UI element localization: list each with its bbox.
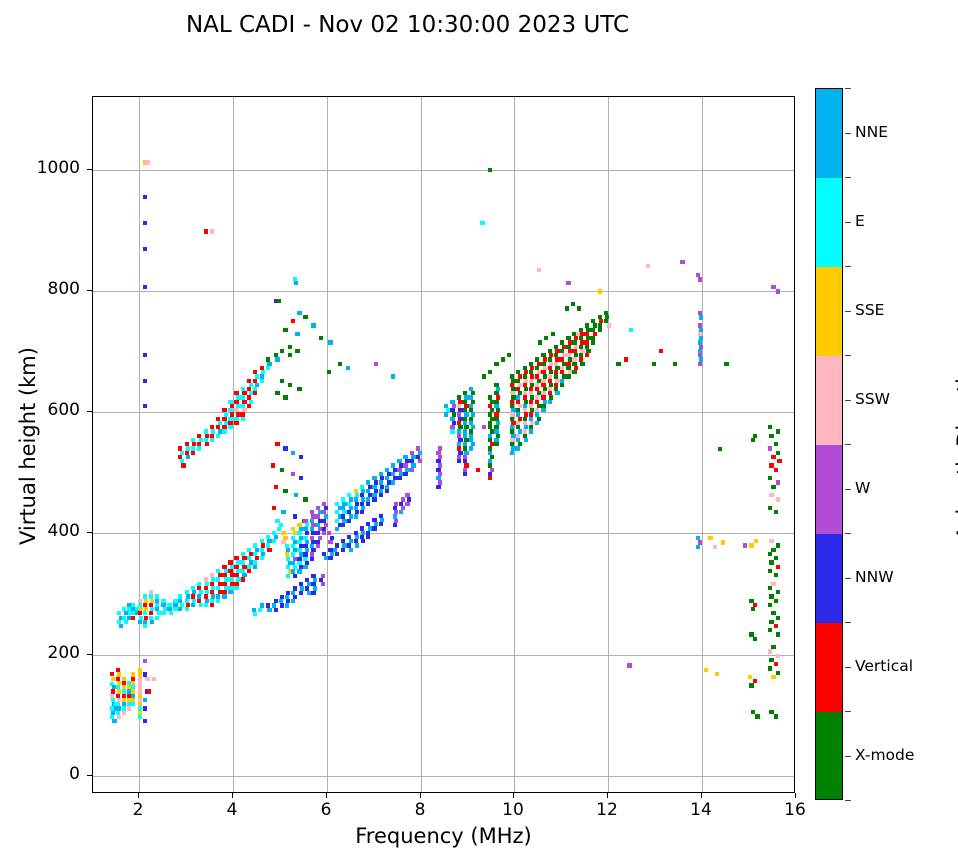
colorbar-tick-mark <box>845 311 851 312</box>
data-cell <box>494 442 498 446</box>
data-cell <box>299 591 303 595</box>
data-cell <box>110 672 114 676</box>
x-tick-mark <box>232 793 233 798</box>
gridline-horizontal <box>93 776 794 777</box>
data-cell <box>585 353 589 357</box>
colorbar-label-ssw: SSW <box>855 390 890 408</box>
data-cell <box>444 412 448 416</box>
data-cell <box>216 599 220 603</box>
y-axis-label: Virtual height (km) <box>16 296 40 596</box>
data-cell <box>748 675 752 679</box>
colorbar-segment-e <box>816 178 842 268</box>
data-cell <box>152 677 156 681</box>
data-cell <box>560 383 564 387</box>
data-cell <box>769 539 773 543</box>
data-cell <box>715 672 719 676</box>
data-cell <box>258 608 262 612</box>
data-cell <box>341 523 345 527</box>
data-cell <box>338 362 342 366</box>
data-cell <box>751 438 755 442</box>
data-cell <box>143 195 147 199</box>
colorbar-segment-x-mode <box>816 712 842 800</box>
data-cell <box>216 434 220 438</box>
x-tick-mark <box>701 793 702 798</box>
data-cell <box>234 586 238 590</box>
colorbar-tick-mark <box>845 578 851 579</box>
data-cell <box>754 539 758 543</box>
y-tick-mark <box>87 290 92 291</box>
data-cell <box>566 374 570 378</box>
data-cell <box>580 362 584 366</box>
data-cell <box>776 671 780 675</box>
data-cell <box>291 599 295 603</box>
data-cell <box>335 527 339 531</box>
data-cell <box>771 675 775 679</box>
y-tick-mark <box>87 775 92 776</box>
data-cell <box>768 628 772 632</box>
colorbar-label-x-mode: X-mode <box>855 746 914 764</box>
data-cell <box>718 447 722 451</box>
data-cell <box>355 543 359 547</box>
data-cell <box>769 658 773 662</box>
data-cell <box>374 362 378 366</box>
colorbar-boundary-tick <box>845 444 851 445</box>
data-cell <box>297 387 301 391</box>
data-cell <box>328 540 332 544</box>
x-tick-mark <box>138 793 139 798</box>
data-cell <box>476 468 480 472</box>
data-cell <box>501 357 505 361</box>
data-cell <box>274 608 278 612</box>
data-cell <box>117 715 121 719</box>
data-cell <box>769 620 773 624</box>
data-cell <box>776 654 780 658</box>
data-cell <box>228 590 232 594</box>
data-cell <box>204 229 208 233</box>
colorbar-boundary-tick <box>845 177 851 178</box>
data-cell <box>281 510 285 514</box>
data-cell <box>565 306 569 310</box>
data-cell <box>771 611 775 615</box>
data-cell <box>267 608 271 612</box>
data-cell <box>769 560 773 564</box>
x-axis-label: Frequency (MHz) <box>92 824 795 848</box>
colorbar-label-w: W <box>855 479 870 497</box>
x-tick-mark <box>513 793 514 798</box>
y-tick-mark <box>87 654 92 655</box>
page-title: NAL CADI - Nov 02 10:30:00 2023 UTC <box>0 12 815 38</box>
data-cell <box>673 362 677 366</box>
data-cell <box>480 221 484 225</box>
colorbar-boundary-tick <box>845 88 851 89</box>
colorbar-tick-mark <box>845 667 851 668</box>
colorbar-boundary-tick <box>845 266 851 267</box>
data-cell <box>199 603 203 607</box>
data-cell <box>143 706 147 710</box>
data-cell <box>114 706 118 710</box>
data-cell <box>272 539 276 543</box>
data-cell <box>138 620 142 624</box>
data-cell <box>776 289 780 293</box>
data-cell <box>524 438 528 442</box>
data-cell <box>774 442 778 446</box>
data-cell <box>228 425 232 429</box>
data-cell <box>551 332 555 336</box>
data-cell <box>210 603 214 607</box>
colorbar-segment-vertical <box>816 623 842 713</box>
data-cell <box>303 565 307 569</box>
data-cell <box>768 603 772 607</box>
x-tick-label: 12 <box>577 800 637 820</box>
colorbar-boundary-tick <box>845 622 851 623</box>
data-cell <box>768 425 772 429</box>
data-cell <box>704 668 708 672</box>
data-cell <box>768 446 772 450</box>
data-cell <box>283 328 287 332</box>
data-cell <box>253 565 257 569</box>
data-cell <box>124 620 128 624</box>
data-cell <box>768 552 772 556</box>
colorbar-boundary-tick <box>845 800 851 801</box>
colorbar-tick-mark <box>845 400 851 401</box>
colorbar-tick-mark <box>845 756 851 757</box>
data-cell <box>143 698 147 702</box>
data-cell <box>143 624 147 628</box>
data-cell <box>544 336 548 340</box>
data-cell <box>210 438 214 442</box>
data-cell <box>122 711 126 715</box>
data-cell <box>576 332 580 336</box>
y-tick-label: 200 <box>16 643 80 663</box>
data-cell <box>143 379 147 383</box>
data-cell <box>147 689 151 693</box>
data-cell <box>210 229 214 233</box>
data-cell <box>749 683 753 687</box>
data-cell <box>405 502 409 506</box>
gridline-horizontal <box>93 170 794 171</box>
data-cell <box>191 451 195 455</box>
data-cell <box>768 649 772 653</box>
colorbar-tick-mark <box>845 222 851 223</box>
data-cell <box>274 485 278 489</box>
data-cell <box>297 311 301 315</box>
data-cell <box>294 493 298 497</box>
colorbar <box>815 88 843 800</box>
data-cell <box>774 556 778 560</box>
data-cell <box>295 349 299 353</box>
data-cell <box>280 379 284 383</box>
colorbar-label-e: E <box>855 212 865 230</box>
data-cell <box>267 548 271 552</box>
data-cell <box>627 663 631 667</box>
data-cell <box>548 400 552 404</box>
data-cell <box>299 476 303 480</box>
data-cell <box>769 463 773 467</box>
data-cell <box>354 514 358 518</box>
data-cell <box>277 299 281 303</box>
data-cell <box>366 535 370 539</box>
data-cell <box>277 527 281 531</box>
data-cell <box>295 332 299 336</box>
data-cell <box>482 425 486 429</box>
data-cell <box>482 374 486 378</box>
data-cell <box>774 624 778 628</box>
data-cell <box>516 446 520 450</box>
data-cell <box>708 536 712 540</box>
data-cell <box>346 366 350 370</box>
data-cell <box>288 353 292 357</box>
data-cell <box>397 476 401 480</box>
data-cell <box>260 556 264 560</box>
colorbar-label-nne: NNE <box>855 123 888 141</box>
x-tick-label: 8 <box>390 800 450 820</box>
data-cell <box>138 715 142 719</box>
x-tick-label: 2 <box>108 800 168 820</box>
data-cell <box>751 607 755 611</box>
data-cell <box>538 340 542 344</box>
data-cell <box>372 526 376 530</box>
data-cell <box>112 719 116 723</box>
data-cell <box>410 468 414 472</box>
data-cell <box>222 594 226 598</box>
data-cell <box>341 548 345 552</box>
data-cell <box>769 434 773 438</box>
data-cell <box>181 463 185 467</box>
data-cell <box>776 480 780 484</box>
data-cell <box>280 349 284 353</box>
data-cell <box>771 285 775 289</box>
colorbar-tick-mark <box>845 489 851 490</box>
x-tick-mark <box>326 793 327 798</box>
data-cell <box>488 476 492 480</box>
data-cell <box>316 544 320 548</box>
colorbar-boundary-tick <box>845 355 851 356</box>
data-cell <box>307 591 311 595</box>
gridline-vertical <box>702 97 703 792</box>
data-cell <box>768 476 772 480</box>
data-cell <box>469 446 473 450</box>
data-cell <box>755 714 759 718</box>
data-cell <box>119 624 123 628</box>
data-cell <box>131 702 135 706</box>
data-cell <box>488 370 492 374</box>
data-cell <box>161 611 165 615</box>
data-cell <box>680 260 684 264</box>
data-cell <box>311 323 315 327</box>
data-cell <box>391 480 395 484</box>
data-cell <box>275 442 279 446</box>
data-cell <box>247 404 251 408</box>
data-cell <box>291 451 295 455</box>
data-cell <box>297 569 301 573</box>
data-cell <box>768 506 772 510</box>
data-cell <box>566 281 570 285</box>
data-cell <box>186 455 190 459</box>
data-cell <box>418 459 422 463</box>
data-cell <box>749 543 753 547</box>
scatter-plot-area <box>93 97 794 792</box>
data-cell <box>769 710 773 714</box>
data-cell <box>769 594 773 598</box>
data-cell <box>751 710 755 714</box>
data-cell <box>222 429 226 433</box>
data-cell <box>768 666 772 670</box>
data-cell <box>145 160 149 164</box>
data-cell <box>646 264 650 268</box>
colorbar-segment-sse <box>816 267 842 357</box>
x-tick-label: 6 <box>296 800 356 820</box>
data-cell <box>275 391 279 395</box>
data-cell <box>324 556 328 560</box>
data-cell <box>507 353 511 357</box>
colorbar-label-nnw: NNW <box>855 568 894 586</box>
data-cell <box>204 603 208 607</box>
data-cell <box>234 421 238 425</box>
data-cell <box>768 586 772 590</box>
gridline-horizontal <box>93 655 794 656</box>
data-cell <box>699 315 703 319</box>
colorbar-segment-nnw <box>816 534 842 624</box>
data-cell <box>577 306 581 310</box>
data-cell <box>598 289 602 293</box>
data-cell <box>291 319 295 323</box>
colorbar-segment-ssw <box>816 356 842 446</box>
data-cell <box>372 497 376 501</box>
plot-axes <box>92 96 795 793</box>
data-cell <box>403 472 407 476</box>
data-cell <box>347 519 351 523</box>
data-cell <box>360 510 364 514</box>
data-cell <box>776 565 780 569</box>
data-cell <box>303 315 307 319</box>
colorbar-label: Azimuth Direction <box>953 281 958 611</box>
x-tick-label: 10 <box>483 800 543 820</box>
data-cell <box>145 677 149 681</box>
data-cell <box>393 523 397 527</box>
x-tick-mark <box>420 793 421 798</box>
y-tick-mark <box>87 532 92 533</box>
data-cell <box>616 362 620 366</box>
data-cell <box>143 353 147 357</box>
data-cell <box>241 417 245 421</box>
data-cell <box>299 455 303 459</box>
data-cell <box>774 714 778 718</box>
data-cell <box>143 719 147 723</box>
data-cell <box>591 340 595 344</box>
data-cell <box>205 442 209 446</box>
data-cell <box>155 616 159 620</box>
data-cell <box>280 603 284 607</box>
data-cell <box>450 429 454 433</box>
data-cell <box>253 612 257 616</box>
data-cell <box>463 472 467 476</box>
x-tick-mark <box>607 793 608 798</box>
data-cell <box>696 545 700 549</box>
colorbar-segment-w <box>816 445 842 535</box>
x-tick-label: 16 <box>765 800 825 820</box>
colorbar-tick-mark <box>845 133 851 134</box>
data-cell <box>127 706 131 710</box>
data-cell <box>776 497 780 501</box>
data-cell <box>197 446 201 450</box>
y-tick-mark <box>87 169 92 170</box>
data-cell <box>266 366 270 370</box>
data-cell <box>191 603 195 607</box>
data-cell <box>303 497 307 501</box>
data-cell <box>776 590 780 594</box>
data-cell <box>571 302 575 306</box>
data-cell <box>185 607 189 611</box>
data-cell <box>294 281 298 285</box>
data-cell <box>555 391 559 395</box>
x-tick-mark <box>795 793 796 798</box>
data-cell <box>488 168 492 172</box>
data-cell <box>169 611 173 615</box>
data-cell <box>771 485 775 489</box>
gridline-vertical <box>608 97 609 792</box>
data-cell <box>327 370 331 374</box>
gridline-horizontal <box>93 533 794 534</box>
data-cell <box>321 582 325 586</box>
data-cell <box>275 357 279 361</box>
data-cell <box>659 349 663 353</box>
data-cell <box>335 552 339 556</box>
colorbar-label-vertical: Vertical <box>855 657 913 675</box>
data-cell <box>260 379 264 383</box>
data-cell <box>457 459 461 463</box>
data-cell <box>776 632 780 636</box>
data-cell <box>385 489 389 493</box>
data-cell <box>127 616 131 620</box>
data-cell <box>598 328 602 332</box>
data-cell <box>494 362 498 366</box>
data-cell <box>776 429 780 433</box>
data-cell <box>286 574 290 578</box>
data-cell <box>288 383 292 387</box>
data-cell <box>529 429 533 433</box>
data-cell <box>283 446 287 450</box>
data-cell <box>776 543 780 547</box>
colorbar-label-sse: SSE <box>855 301 884 319</box>
gridline-vertical <box>421 97 422 792</box>
data-cell <box>328 340 332 344</box>
data-cell <box>629 328 633 332</box>
data-cell <box>698 277 702 281</box>
data-cell <box>283 395 287 399</box>
data-cell <box>272 506 276 510</box>
data-cell <box>349 548 353 552</box>
data-cell <box>510 451 514 455</box>
data-cell <box>607 323 611 327</box>
data-cell <box>319 336 323 340</box>
data-cell <box>283 489 287 493</box>
data-cell <box>328 556 332 560</box>
data-cell <box>247 569 251 573</box>
data-cell <box>361 539 365 543</box>
data-cell <box>150 620 154 624</box>
data-cell <box>769 493 773 497</box>
data-cell <box>774 662 778 666</box>
data-cell <box>753 637 757 641</box>
data-cell <box>436 485 440 489</box>
data-cell <box>724 362 728 366</box>
data-cell <box>743 543 747 547</box>
data-cell <box>774 510 778 514</box>
data-cell <box>143 285 147 289</box>
data-cell <box>293 574 297 578</box>
data-cell <box>322 531 326 535</box>
gridline-horizontal <box>93 291 794 292</box>
